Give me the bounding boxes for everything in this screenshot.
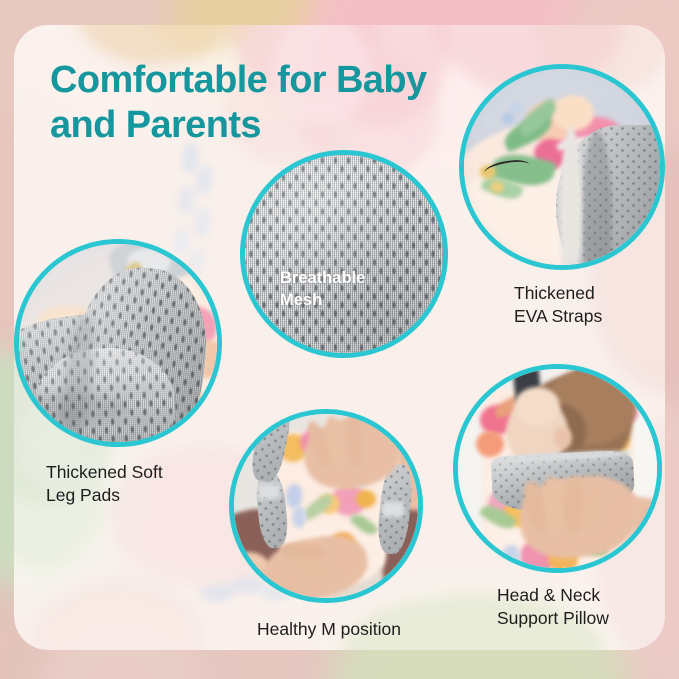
caption-m-position: Healthy M position xyxy=(224,618,434,641)
page-title: Comfortable for Baby and Parents xyxy=(50,58,520,148)
feature-image-m-position xyxy=(229,409,423,603)
caption-head-neck-pillow: Head & Neck Support Pillow xyxy=(497,584,679,630)
caption-leg-pads: Thickened Soft Leg Pads xyxy=(46,461,246,507)
overlay-label-breathable-mesh: Breathable Mesh xyxy=(280,268,365,312)
feature-image-head-neck-pillow xyxy=(453,364,662,573)
infographic-canvas: Comfortable for Baby and Parents Breatha… xyxy=(0,0,679,679)
feature-image-leg-pads xyxy=(14,239,222,447)
caption-eva-straps: Thickened EVA Straps xyxy=(514,282,679,328)
feature-image-breathable-mesh xyxy=(240,150,448,358)
